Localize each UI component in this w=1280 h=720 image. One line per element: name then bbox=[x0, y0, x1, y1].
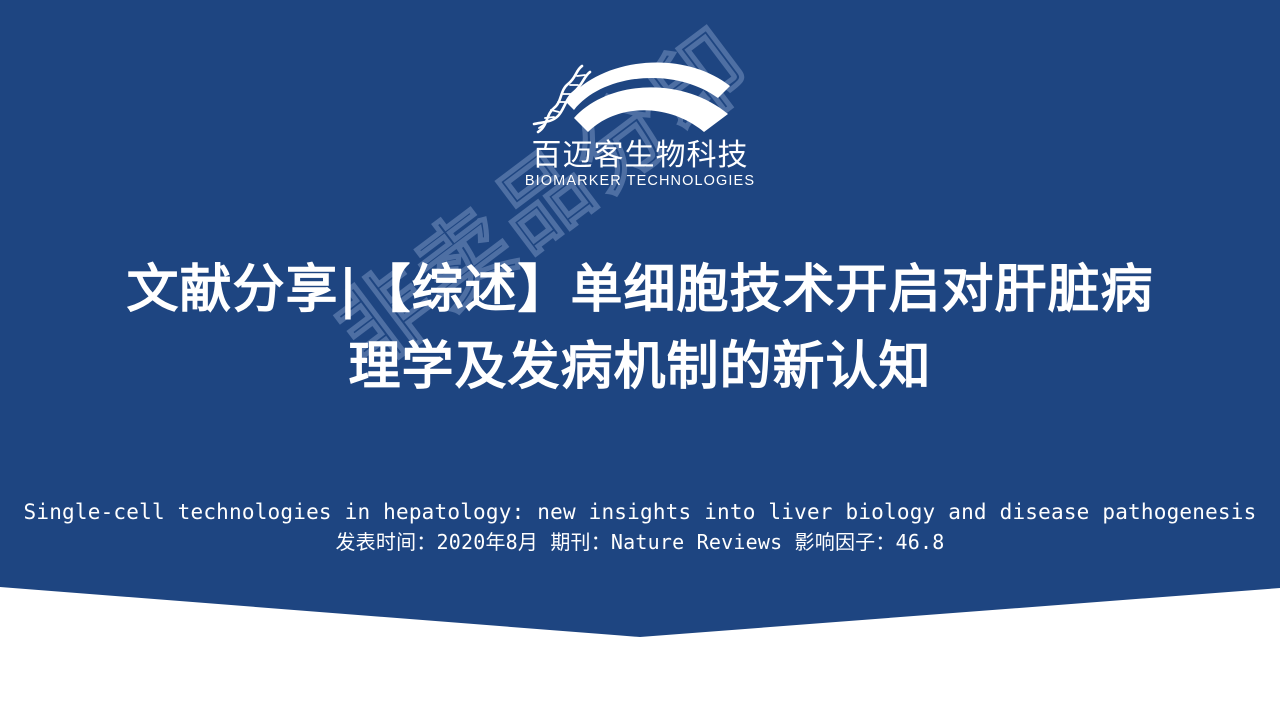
biomarker-arc-dna-logo-icon bbox=[532, 52, 748, 138]
logo-company-name-en: BIOMARKER TECHNOLOGIES bbox=[0, 174, 1280, 190]
slide-title-line-1: 文献分享|【综述】单细胞技术开启对肝脏病 bbox=[0, 252, 1280, 329]
logo-company-name-cn: 百迈客生物科技 bbox=[0, 140, 1280, 172]
presentation-slide: 非卖品分印 百迈客生物科技 BIOMARKER TECHNOL bbox=[0, 0, 1280, 720]
slide-subtitle: Single-cell technologies in hepatology: … bbox=[0, 498, 1280, 556]
paper-english-title: Single-cell technologies in hepatology: … bbox=[0, 498, 1280, 526]
paper-publication-meta: 发表时间：2020年8月 期刊：Nature Reviews 影响因子：46.8 bbox=[0, 528, 1280, 556]
company-logo: 百迈客生物科技 BIOMARKER TECHNOLOGIES bbox=[0, 52, 1280, 189]
slide-title: 文献分享|【综述】单细胞技术开启对肝脏病 理学及发病机制的新认知 bbox=[0, 252, 1280, 406]
slide-title-line-2: 理学及发病机制的新认知 bbox=[0, 329, 1280, 406]
